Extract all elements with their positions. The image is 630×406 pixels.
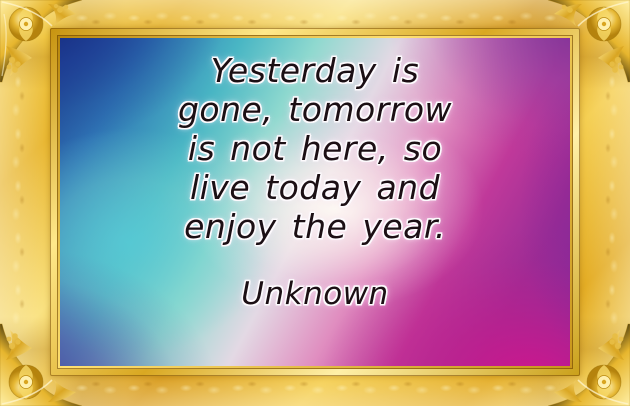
frame-rail-right-relief [596,70,626,336]
quote-line-5: enjoy the year. [184,210,446,243]
quote-poster: Yesterday is gone, tomorrow is not here,… [0,0,630,406]
quote-line-4: live today and [190,171,440,204]
quote-line-3: is not here, so [188,132,442,165]
quote-line-2: gone, tomorrow [178,93,452,126]
quote-text-block: Yesterday is gone, tomorrow is not here,… [60,38,570,366]
frame-rail-bottom-relief [70,372,560,402]
frame-rail-left-relief [4,70,34,336]
quote-line-1: Yesterday is [211,54,419,87]
artwork-canvas: Yesterday is gone, tomorrow is not here,… [60,38,570,366]
quote-attribution: Unknown [241,279,388,310]
